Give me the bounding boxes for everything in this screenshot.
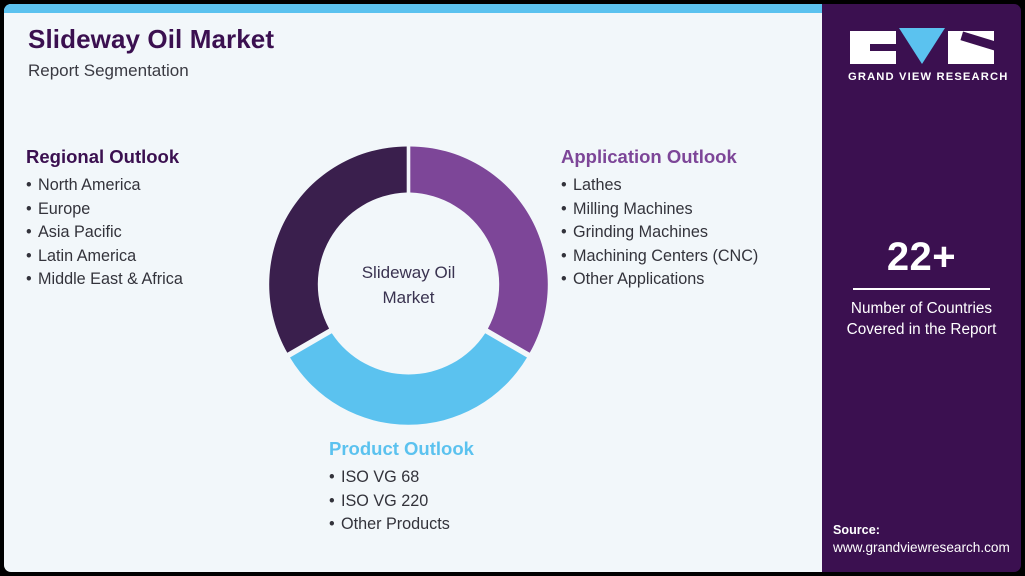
bullet-icon: •	[26, 245, 38, 269]
bullet-icon: •	[561, 174, 573, 198]
bullet-icon: •	[329, 513, 341, 537]
list-item-label: Other Applications	[573, 270, 704, 288]
donut-segment-application[interactable]	[410, 147, 547, 353]
list-item-label: ISO VG 68	[341, 468, 419, 486]
source-label: Source:	[833, 522, 1021, 539]
stat-caption-line-1: Number of Countries	[822, 298, 1021, 319]
list-item-label: Middle East & Africa	[38, 270, 183, 288]
bullet-icon: •	[329, 490, 341, 514]
list-item-label: Other Products	[341, 515, 450, 533]
gvr-g-mark-icon	[850, 31, 896, 64]
logo-marks	[848, 28, 996, 64]
bullet-icon: •	[26, 221, 38, 245]
list-item: •ISO VG 220	[329, 490, 474, 514]
list-item: •Machining Centers (CNC)	[561, 245, 758, 269]
application-outlook-list: •Lathes •Milling Machines •Grinding Mach…	[561, 174, 758, 292]
product-outlook-block: Product Outlook •ISO VG 68 •ISO VG 220 •…	[326, 438, 474, 537]
list-item: •ISO VG 68	[329, 466, 474, 490]
gvr-r-mark-icon	[948, 31, 994, 64]
source-block: Source: www.grandviewresearch.com	[833, 522, 1021, 557]
main-content-panel: Slideway Oil Market Report Segmentation …	[4, 4, 822, 572]
bullet-icon: •	[561, 245, 573, 269]
stat-divider	[853, 288, 990, 290]
list-item: •North America	[26, 174, 183, 198]
list-item: •Other Applications	[561, 268, 758, 292]
regional-outlook-list: •North America •Europe •Asia Pacific •La…	[26, 174, 183, 292]
stat-value: 22+	[822, 236, 1021, 278]
bullet-icon: •	[26, 198, 38, 222]
application-outlook-heading: Application Outlook	[561, 146, 758, 168]
top-accent-bar	[4, 4, 822, 13]
list-item: •Other Products	[329, 513, 474, 537]
donut-segment-regional[interactable]	[269, 147, 406, 353]
list-item-label: North America	[38, 176, 141, 194]
regional-outlook-block: Regional Outlook •North America •Europe …	[26, 146, 183, 292]
list-item-label: ISO VG 220	[341, 492, 428, 510]
bullet-icon: •	[561, 198, 573, 222]
list-item: •Milling Machines	[561, 198, 758, 222]
bullet-icon: •	[329, 466, 341, 490]
application-outlook-block: Application Outlook •Lathes •Milling Mac…	[561, 146, 758, 292]
brand-wordmark: GRAND VIEW RESEARCH	[848, 71, 996, 83]
list-item: •Europe	[26, 198, 183, 222]
regional-outlook-heading: Regional Outlook	[26, 146, 183, 168]
donut-svg	[266, 142, 551, 427]
list-item-label: Lathes	[573, 176, 622, 194]
list-item-label: Machining Centers (CNC)	[573, 247, 758, 265]
countries-stat-block: 22+ Number of Countries Covered in the R…	[822, 236, 1021, 340]
product-outlook-list: •ISO VG 68 •ISO VG 220 •Other Products	[329, 466, 474, 537]
product-outlook-heading: Product Outlook	[329, 438, 474, 460]
donut-segment-product[interactable]	[290, 333, 527, 424]
page-subtitle: Report Segmentation	[28, 61, 274, 81]
list-item-label: Asia Pacific	[38, 223, 122, 241]
list-item-label: Europe	[38, 200, 90, 218]
gvr-v-triangle-icon	[899, 28, 945, 64]
bullet-icon: •	[561, 221, 573, 245]
bullet-icon: •	[26, 174, 38, 198]
brand-logo: GRAND VIEW RESEARCH	[848, 28, 996, 83]
brand-sidebar: GRAND VIEW RESEARCH 22+ Number of Countr…	[822, 4, 1021, 572]
list-item: •Middle East & Africa	[26, 268, 183, 292]
bullet-icon: •	[26, 268, 38, 292]
bullet-icon: •	[561, 268, 573, 292]
list-item: •Asia Pacific	[26, 221, 183, 245]
list-item: •Latin America	[26, 245, 183, 269]
infographic-canvas: Slideway Oil Market Report Segmentation …	[0, 0, 1025, 576]
list-item-label: Milling Machines	[573, 200, 693, 218]
header-block: Slideway Oil Market Report Segmentation	[28, 24, 274, 82]
list-item: •Grinding Machines	[561, 221, 758, 245]
segmentation-donut-chart: Slideway Oil Market	[266, 142, 551, 427]
page-title: Slideway Oil Market	[28, 24, 274, 55]
list-item-label: Grinding Machines	[573, 223, 708, 241]
list-item: •Lathes	[561, 174, 758, 198]
source-url[interactable]: www.grandviewresearch.com	[833, 539, 1021, 557]
list-item-label: Latin America	[38, 247, 136, 265]
stat-caption-line-2: Covered in the Report	[822, 319, 1021, 340]
